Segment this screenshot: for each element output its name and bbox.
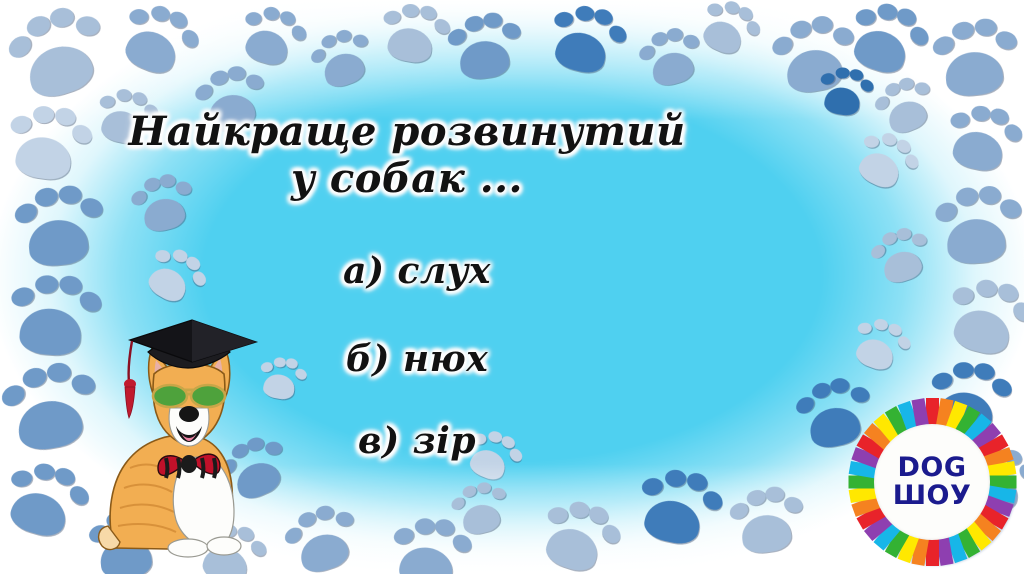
- logo-line-1: DOG: [897, 454, 966, 482]
- paw-print: [386, 512, 474, 574]
- title-line-2: у собак ...: [291, 155, 523, 202]
- paw-print: [629, 460, 728, 556]
- slide-canvas: Найкраще розвинутийу собак ... а) слух б…: [0, 0, 1024, 574]
- corgi-graduate-mascot: [96, 312, 271, 560]
- paw-print: [443, 7, 526, 87]
- logo-inner-circle: DOG ШОУ: [874, 424, 990, 540]
- answer-option-a[interactable]: а) слух: [0, 250, 1024, 292]
- paw-print: [375, 0, 453, 71]
- logo-line-2: ШОУ: [893, 482, 972, 510]
- title-line-1: Найкраще розвинутий: [128, 108, 685, 155]
- page-title: Найкраще розвинутийу собак ...: [0, 108, 1024, 202]
- paw-print: [928, 14, 1022, 105]
- paw-print: [725, 481, 808, 561]
- dog-show-logo: DOG ШОУ: [848, 398, 1016, 566]
